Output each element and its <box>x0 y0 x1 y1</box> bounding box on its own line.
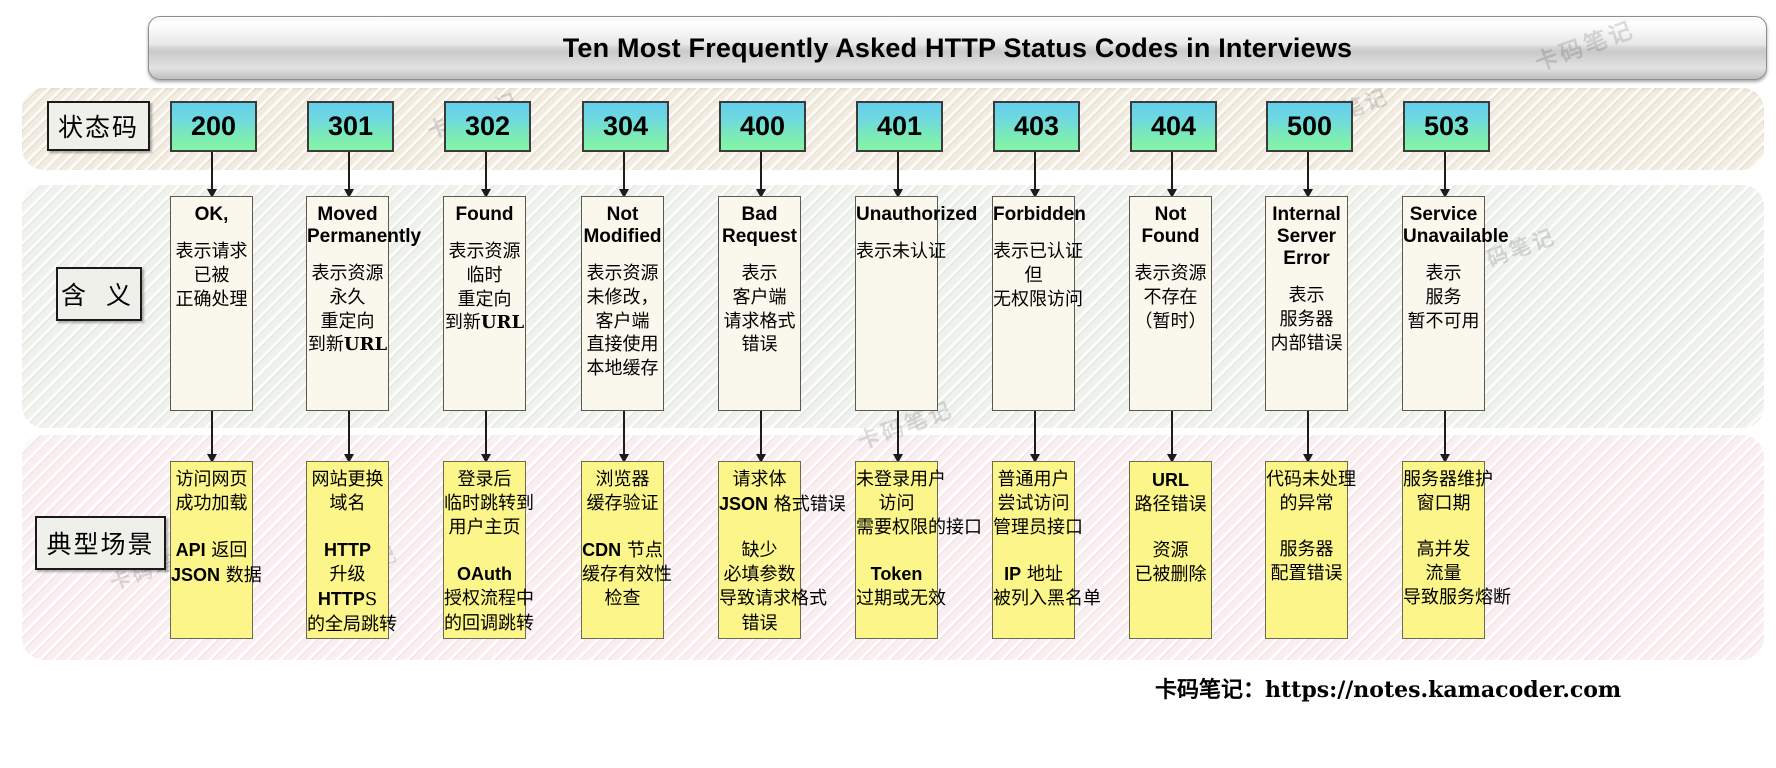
meaning-box-304: NotModified表示资源未修改，客户端直接使用本地缓存 <box>581 196 664 411</box>
connector-line <box>211 148 213 191</box>
watermark-title: 卡码笔记 <box>1529 16 1638 78</box>
connector-line <box>1171 148 1173 191</box>
row-label-scenario: 典型场景 <box>35 516 166 570</box>
meaning-description-401: 表示未认证 <box>856 240 937 264</box>
connector-line <box>348 411 350 456</box>
connector-line <box>1034 148 1036 191</box>
meaning-box-301: MovedPermanently表示资源永久重定向到新URL <box>306 196 389 411</box>
scenario-primary-401: 未登录用户访问需要权限的接口 <box>856 468 937 540</box>
footer-credit: 卡码笔记：https://notes.kamacoder.com <box>1155 672 1621 704</box>
connector-line <box>211 411 213 456</box>
scenario-box-301: 网站更换域名HTTP升级HTTPS的全局跳转 <box>306 461 389 639</box>
connector-line <box>623 148 625 191</box>
meaning-box-404: NotFound表示资源不存在（暂时） <box>1129 196 1212 411</box>
connector-meaning-to-scenario-403 <box>1034 411 1036 463</box>
scenario-box-302: 登录后临时跳转到用户主页OAuth授权流程中的回调跳转 <box>443 461 526 639</box>
meaning-box-400: BadRequest表示客户端请求格式错误 <box>718 196 801 411</box>
connector-meaning-to-scenario-304 <box>623 411 625 463</box>
scenario-box-304: 浏览器缓存验证CDN 节点缓存有效性检查 <box>581 461 664 639</box>
meaning-title-500: InternalServerError <box>1266 204 1347 270</box>
scenario-primary-403: 普通用户尝试访问管理员接口 <box>993 468 1074 540</box>
meaning-box-401: Unauthorized表示未认证 <box>855 196 938 411</box>
scenario-primary-302: 登录后临时跳转到用户主页 <box>444 468 525 540</box>
meaning-title-400: BadRequest <box>719 204 800 248</box>
connector-line <box>485 148 487 191</box>
connector-code-to-meaning-301 <box>348 148 350 198</box>
scenario-secondary-503: 高并发流量导致服务熔断 <box>1403 538 1484 610</box>
meaning-box-503: ServiceUnavailable表示服务暂不可用 <box>1402 196 1485 411</box>
connector-meaning-to-scenario-400 <box>760 411 762 463</box>
connector-meaning-to-scenario-200 <box>211 411 213 463</box>
scenario-secondary-400: 缺少必填参数导致请求格式错误 <box>719 539 800 635</box>
scenario-primary-304: 浏览器缓存验证 <box>582 468 663 516</box>
meaning-description-302: 表示资源临时重定向到新URL <box>444 240 525 335</box>
meaning-description-400: 表示客户端请求格式错误 <box>719 262 800 357</box>
connector-meaning-to-scenario-500 <box>1307 411 1309 463</box>
scenario-secondary-401: Token过期或无效 <box>856 562 937 611</box>
meaning-title-302: Found <box>444 204 525 226</box>
connector-code-to-meaning-503 <box>1444 148 1446 198</box>
meaning-title-503: ServiceUnavailable <box>1403 204 1484 248</box>
connector-line <box>1444 411 1446 456</box>
connector-code-to-meaning-304 <box>623 148 625 198</box>
scenario-secondary-404: 资源已被删除 <box>1130 539 1211 587</box>
status-code-box-200[interactable]: 200 <box>170 101 257 152</box>
scenario-primary-404: URL路径错误 <box>1130 468 1211 517</box>
status-code-box-301[interactable]: 301 <box>307 101 394 152</box>
scenario-box-401: 未登录用户访问需要权限的接口Token过期或无效 <box>855 461 938 639</box>
status-code-box-503[interactable]: 503 <box>1403 101 1490 152</box>
meaning-description-404: 表示资源不存在（暂时） <box>1130 262 1211 333</box>
status-code-box-403[interactable]: 403 <box>993 101 1080 152</box>
meaning-description-500: 表示服务器内部错误 <box>1266 284 1347 355</box>
meaning-description-403: 表示已认证但无权限访问 <box>993 240 1074 311</box>
scenario-secondary-302: OAuth授权流程中的回调跳转 <box>444 562 525 635</box>
row-label-status-code: 状态码 <box>47 101 150 151</box>
connector-meaning-to-scenario-401 <box>897 411 899 463</box>
meaning-title-304: NotModified <box>582 204 663 248</box>
scenario-box-404: URL路径错误资源已被删除 <box>1129 461 1212 639</box>
meaning-description-503: 表示服务暂不可用 <box>1403 262 1484 333</box>
meaning-box-403: Forbidden表示已认证但无权限访问 <box>992 196 1075 411</box>
scenario-box-200: 访问网页成功加载API 返回JSON 数据 <box>170 461 253 639</box>
meaning-box-200: OK,表示请求已被正确处理 <box>170 196 253 411</box>
status-code-box-404[interactable]: 404 <box>1130 101 1217 152</box>
meaning-description-200: 表示请求已被正确处理 <box>171 240 252 311</box>
meaning-box-500: InternalServerError表示服务器内部错误 <box>1265 196 1348 411</box>
meaning-title-404: NotFound <box>1130 204 1211 248</box>
meaning-description-301: 表示资源永久重定向到新URL <box>307 262 388 357</box>
connector-line <box>1444 148 1446 191</box>
connector-line <box>1171 411 1173 456</box>
scenario-secondary-301: HTTP升级HTTPS的全局跳转 <box>307 538 388 636</box>
connector-meaning-to-scenario-404 <box>1171 411 1173 463</box>
connector-line <box>485 411 487 456</box>
scenario-primary-301: 网站更换域名 <box>307 468 388 516</box>
connector-line <box>897 411 899 456</box>
connector-code-to-meaning-500 <box>1307 148 1309 198</box>
connector-line <box>1034 411 1036 456</box>
status-code-box-500[interactable]: 500 <box>1266 101 1353 152</box>
connector-meaning-to-scenario-302 <box>485 411 487 463</box>
connector-code-to-meaning-400 <box>760 148 762 198</box>
connector-line <box>897 148 899 191</box>
meaning-title-200: OK, <box>171 204 252 226</box>
scenario-box-503: 服务器维护窗口期高并发流量导致服务熔断 <box>1402 461 1485 639</box>
connector-code-to-meaning-200 <box>211 148 213 198</box>
meaning-box-302: Found表示资源临时重定向到新URL <box>443 196 526 411</box>
scenario-box-400: 请求体JSON 格式错误缺少必填参数导致请求格式错误 <box>718 461 801 639</box>
connector-meaning-to-scenario-503 <box>1444 411 1446 463</box>
scenario-primary-400: 请求体JSON 格式错误 <box>719 468 800 517</box>
meaning-title-403: Forbidden <box>993 204 1074 226</box>
scenario-primary-500: 代码未处理的异常 <box>1266 468 1347 516</box>
meaning-description-304: 表示资源未修改，客户端直接使用本地缓存 <box>582 262 663 381</box>
connector-meaning-to-scenario-301 <box>348 411 350 463</box>
status-code-box-401[interactable]: 401 <box>856 101 943 152</box>
row-label-meaning: 含 义 <box>56 267 142 321</box>
connector-code-to-meaning-401 <box>897 148 899 198</box>
scenario-box-500: 代码未处理的异常服务器配置错误 <box>1265 461 1348 639</box>
connector-code-to-meaning-403 <box>1034 148 1036 198</box>
connector-line <box>1307 411 1309 456</box>
scenario-secondary-500: 服务器配置错误 <box>1266 538 1347 586</box>
status-code-box-304[interactable]: 304 <box>582 101 669 152</box>
scenario-box-403: 普通用户尝试访问管理员接口IP 地址被列入黑名单 <box>992 461 1075 639</box>
scenario-secondary-200: API 返回JSON 数据 <box>171 538 252 588</box>
scenario-primary-200: 访问网页成功加载 <box>171 468 252 516</box>
status-code-box-400[interactable]: 400 <box>719 101 806 152</box>
connector-line <box>623 411 625 456</box>
page-title: Ten Most Frequently Asked HTTP Status Co… <box>563 33 1353 64</box>
status-code-box-302[interactable]: 302 <box>444 101 531 152</box>
meaning-title-401: Unauthorized <box>856 204 937 226</box>
diagram-title-bar: Ten Most Frequently Asked HTTP Status Co… <box>148 16 1767 80</box>
connector-line <box>760 148 762 191</box>
connector-code-to-meaning-302 <box>485 148 487 198</box>
connector-code-to-meaning-404 <box>1171 148 1173 198</box>
meaning-title-301: MovedPermanently <box>307 204 388 248</box>
connector-line <box>1307 148 1309 191</box>
scenario-secondary-304: CDN 节点缓存有效性检查 <box>582 538 663 611</box>
scenario-primary-503: 服务器维护窗口期 <box>1403 468 1484 516</box>
connector-line <box>348 148 350 191</box>
scenario-secondary-403: IP 地址被列入黑名单 <box>993 562 1074 611</box>
connector-line <box>760 411 762 456</box>
